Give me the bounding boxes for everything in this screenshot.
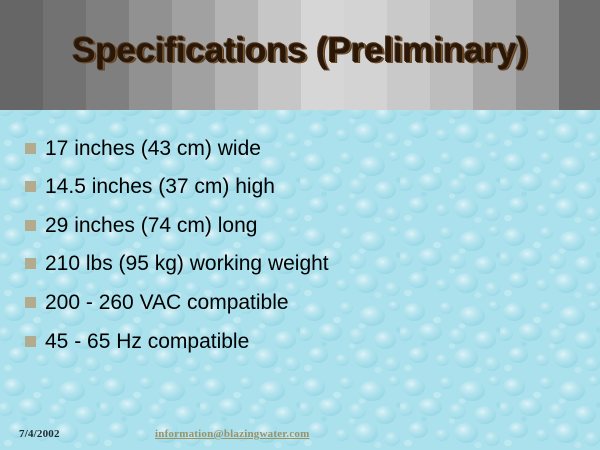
square-bullet-icon <box>25 336 36 347</box>
list-item: 14.5 inches (37 cm) high <box>25 172 275 202</box>
list-item: 29 inches (74 cm) long <box>25 210 257 240</box>
footer-date: 7/4/2002 <box>19 428 60 440</box>
list-item: 17 inches (43 cm) wide <box>25 133 261 163</box>
list-item: 210 lbs (95 kg) working weight <box>25 249 329 279</box>
square-bullet-icon <box>25 258 36 269</box>
square-bullet-icon <box>25 297 36 308</box>
page-title: Specifications (Preliminary) <box>0 29 600 73</box>
footer-email-link[interactable]: information@blazingwater.com <box>155 428 309 440</box>
list-item: 200 - 260 VAC compatible <box>25 287 289 317</box>
list-item-label: 29 inches (74 cm) long <box>45 213 257 238</box>
list-item-label: 200 - 260 VAC compatible <box>45 290 289 315</box>
list-item-label: 14.5 inches (37 cm) high <box>45 174 275 199</box>
list-item-label: 45 - 65 Hz compatible <box>45 329 249 354</box>
square-bullet-icon <box>25 181 36 192</box>
title-band: Specifications (Preliminary) <box>0 0 600 110</box>
square-bullet-icon <box>25 143 36 154</box>
bullet-list: 17 inches (43 cm) wide14.5 inches (37 cm… <box>0 110 600 410</box>
slide: Specifications (Preliminary) 17 inches (… <box>0 0 600 450</box>
square-bullet-icon <box>25 220 36 231</box>
list-item-label: 17 inches (43 cm) wide <box>45 136 261 161</box>
list-item-label: 210 lbs (95 kg) working weight <box>45 251 329 276</box>
list-item: 45 - 65 Hz compatible <box>25 326 249 356</box>
